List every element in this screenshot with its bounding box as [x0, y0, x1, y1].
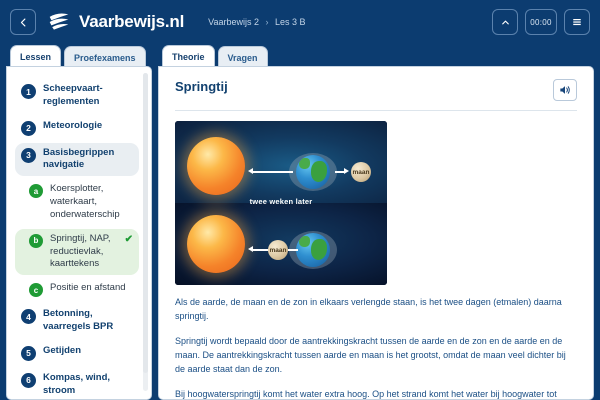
- breadcrumb-separator: ›: [266, 17, 269, 27]
- diagram-caption: twee weken later: [175, 197, 387, 206]
- sidebar-item-label: Springtij, NAP, reductievlak, kaartteken…: [50, 233, 118, 271]
- moon-label-top: maan: [353, 169, 370, 176]
- sidebar-item-label: Koersplotter, waterkaart, onderwaterschi…: [50, 183, 133, 221]
- timer-label: 00:00: [530, 18, 552, 27]
- arrow-left-icon: [18, 17, 29, 28]
- sidebar-item-scheepvaartreglementen[interactable]: 1 Scheepvaart-reglementen: [15, 79, 139, 113]
- brand-logo[interactable]: Vaarbewijs.nl: [46, 11, 184, 33]
- chapter-badge: 2: [21, 121, 36, 136]
- hamburger-menu-icon: [571, 16, 583, 28]
- chapter-badge: 6: [21, 373, 36, 388]
- completed-check-icon: ✔: [125, 234, 133, 245]
- main-content: Theorie Vragen Springtij: [158, 44, 594, 400]
- sidebar-item-label: Positie en afstand: [50, 282, 133, 295]
- app-header: Vaarbewijs.nl Vaarbewijs 2 › Les 3 B 00:…: [0, 0, 600, 44]
- paragraph-3: Bij hoogwaterspringtij komt het water ex…: [175, 388, 577, 399]
- sidebar-tabs: Lessen Proefexamens: [6, 44, 152, 66]
- sidebar-list: 1 Scheepvaart-reglementen 2 Meteorologie…: [7, 67, 151, 399]
- back-button[interactable]: [10, 9, 36, 35]
- sidebar-scrollbar-thumb[interactable]: [143, 73, 148, 373]
- breadcrumb-item-lesson[interactable]: Les 3 B: [275, 17, 306, 27]
- lesson-title-row: Springtij: [175, 79, 577, 101]
- arrow-earth-to-sun-top: [253, 171, 293, 173]
- title-divider: [175, 110, 577, 111]
- moon-bottom: maan: [268, 240, 288, 260]
- sidebar-item-kompas-wind-stroom[interactable]: 6 Kompas, wind, stroom: [15, 368, 139, 399]
- sidebar-item-label: Meteorologie: [43, 120, 133, 133]
- lesson-badge: c: [29, 283, 43, 297]
- sidebar-item-label: Betonning, vaarregels BPR: [43, 308, 133, 334]
- arrow-head-right-top: [344, 168, 349, 174]
- breadcrumb: Vaarbewijs 2 › Les 3 B: [208, 17, 305, 27]
- sidebar-item-label: Basisbegrippen navigatie: [43, 147, 133, 173]
- sidebar-item-label: Kompas, wind, stroom: [43, 372, 133, 398]
- sidebar-item-basisbegrippen-navigatie[interactable]: 3 Basisbegrippen navigatie: [15, 143, 139, 177]
- tab-vragen[interactable]: Vragen: [218, 46, 268, 68]
- breadcrumb-item-course[interactable]: Vaarbewijs 2: [208, 17, 259, 27]
- sidebar-item-meteorologie[interactable]: 2 Meteorologie: [15, 116, 139, 140]
- page-title: Springtij: [175, 79, 228, 94]
- paragraph-2: Springtij wordt bepaald door de aantrekk…: [175, 335, 577, 377]
- sidebar: Lessen Proefexamens 1 Scheepvaart-reglem…: [6, 44, 152, 400]
- sun-top: [187, 137, 245, 195]
- arrow-earth-to-moon-top: [335, 171, 344, 173]
- tab-proefexamens-label: Proefexamens: [74, 53, 136, 63]
- lesson-content: Springtij: [159, 67, 593, 399]
- chapter-badge: 3: [21, 148, 36, 163]
- arrow-head-left-bottom: [248, 246, 253, 252]
- sun-bottom: [187, 215, 245, 273]
- body-area: Lessen Proefexamens 1 Scheepvaart-reglem…: [0, 44, 600, 400]
- arrow-moon-earth-link: [288, 249, 298, 251]
- app-window: Vaarbewijs.nl Vaarbewijs 2 › Les 3 B 00:…: [0, 0, 600, 400]
- tab-vragen-label: Vragen: [228, 53, 258, 63]
- chevron-up-icon: [500, 17, 511, 28]
- paragraph-1: Als de aarde, de maan en de zon in elkaa…: [175, 296, 577, 324]
- earth-top: [296, 155, 330, 189]
- main-tabs: Theorie Vragen: [158, 44, 594, 66]
- earth-bottom: [296, 233, 330, 267]
- chapter-badge: 4: [21, 309, 36, 324]
- brand-name: Vaarbewijs.nl: [79, 12, 184, 32]
- lesson-badge: a: [29, 184, 43, 198]
- tab-lessen-label: Lessen: [20, 52, 51, 62]
- sidebar-item-label: Getijden: [43, 345, 133, 358]
- tab-theorie-label: Theorie: [172, 52, 205, 62]
- sidebar-panel: 1 Scheepvaart-reglementen 2 Meteorologie…: [6, 66, 152, 400]
- tab-proefexamens[interactable]: Proefexamens: [64, 46, 146, 68]
- collapse-button[interactable]: [492, 9, 518, 35]
- moon-label-bottom: maan: [270, 247, 287, 254]
- moon-top: maan: [351, 162, 371, 182]
- sidebar-item-positie-en-afstand[interactable]: c Positie en afstand: [15, 278, 139, 301]
- sidebar-scrollbar[interactable]: [143, 73, 148, 391]
- menu-button[interactable]: [564, 9, 590, 35]
- sidebar-item-springtij-nap[interactable]: b Springtij, NAP, reductievlak, kaarttek…: [15, 229, 139, 275]
- sidebar-item-label: Scheepvaart-reglementen: [43, 83, 133, 109]
- sidebar-item-getijden[interactable]: 5 Getijden: [15, 341, 139, 365]
- timer-button[interactable]: 00:00: [525, 9, 557, 35]
- chapter-badge: 1: [21, 84, 36, 99]
- sidebar-item-betonning-vaarregels-bpr[interactable]: 4 Betonning, vaarregels BPR: [15, 304, 139, 338]
- tab-theorie[interactable]: Theorie: [162, 45, 215, 67]
- sidebar-item-koersplotter[interactable]: a Koersplotter, waterkaart, onderwatersc…: [15, 179, 139, 225]
- vaarbewijs-waves-logo-icon: [46, 11, 72, 33]
- tab-lessen[interactable]: Lessen: [10, 45, 61, 67]
- springtij-diagram: maan twee weken later maan: [175, 121, 387, 285]
- lesson-badge: b: [29, 234, 43, 248]
- audio-play-button[interactable]: [553, 79, 577, 101]
- main-panel: Springtij: [158, 66, 594, 400]
- arrow-head-left-top: [248, 168, 253, 174]
- speaker-sound-icon: [558, 83, 572, 97]
- header-actions: 00:00: [492, 9, 590, 35]
- chapter-badge: 5: [21, 346, 36, 361]
